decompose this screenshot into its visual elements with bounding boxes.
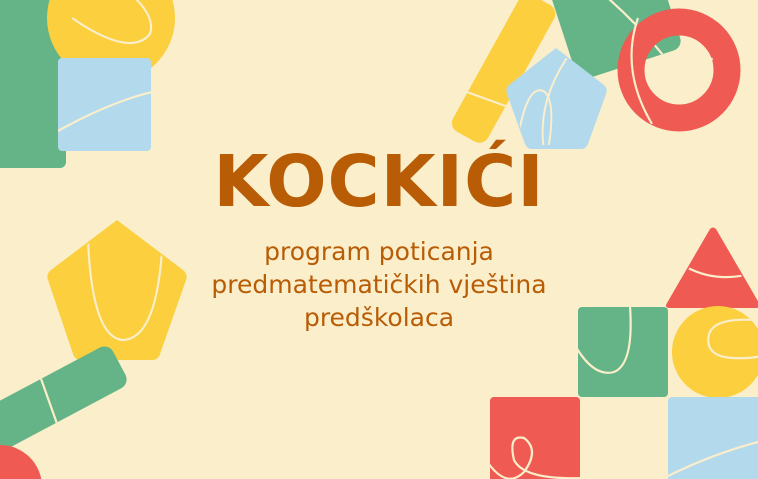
green-square-bottom-right [572,306,668,397]
red-square-bottom-right [486,397,582,479]
red-quarter-circle-bottom-left [0,445,42,479]
decorative-shapes-layer [0,0,758,479]
yellow-pentagon-bottom-left [47,220,186,360]
red-ring-top-right [631,18,727,124]
yellow-circle-bottom-right [672,306,758,398]
poster-canvas: KOCKIĆI program poticanja predmatematičk… [0,0,758,479]
blue-square-top-left [56,58,152,151]
blue-square-bottom-right [664,397,758,479]
red-triangle-bottom-right [666,228,758,309]
